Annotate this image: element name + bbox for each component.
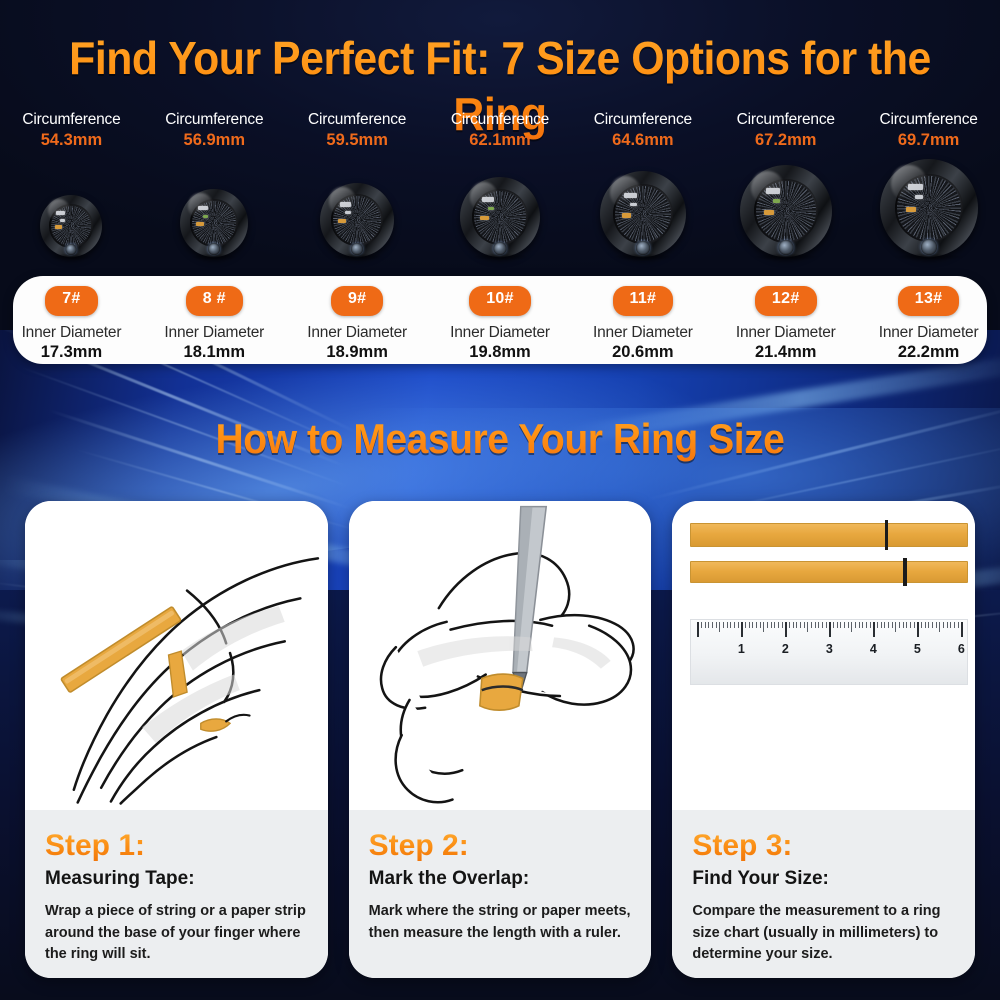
ruler-tick bbox=[848, 622, 849, 628]
step-2-subtitle: Mark the Overlap: bbox=[369, 866, 632, 892]
inner-diameter-value: 22.2mm bbox=[857, 342, 1000, 363]
hand-pen-marking-strip-icon bbox=[349, 501, 652, 810]
ruler-tick bbox=[829, 622, 830, 637]
size-badge-row: 7# 8 # 9# 10# 11# 12# 13# bbox=[0, 286, 1000, 316]
circumference-label: Circumference bbox=[451, 110, 549, 129]
size-badge-7[interactable]: 7# bbox=[45, 286, 97, 316]
section-title: How to Measure Your Ring Size bbox=[35, 412, 965, 466]
step-1-subtitle: Measuring Tape: bbox=[45, 866, 308, 892]
ring-image-10 bbox=[460, 157, 540, 257]
circumference-value: 59.5mm bbox=[326, 130, 387, 151]
ruler-tick bbox=[961, 622, 962, 637]
inner-diameter-cell-13: Inner Diameter 22.2mm bbox=[857, 323, 1000, 369]
circumference-value: 62.1mm bbox=[469, 130, 530, 151]
step-card-1[interactable]: Step 1: Measuring Tape: Wrap a piece of … bbox=[25, 501, 328, 978]
circumference-label: Circumference bbox=[594, 110, 692, 129]
circumference-value: 56.9mm bbox=[184, 130, 245, 151]
ruler-tick bbox=[811, 622, 812, 628]
ruler-tick bbox=[756, 622, 757, 628]
ruler-tick bbox=[782, 622, 783, 628]
ruler-tick bbox=[881, 622, 882, 628]
size-badge-9[interactable]: 9# bbox=[331, 286, 383, 316]
step-1-body: Step 1: Measuring Tape: Wrap a piece of … bbox=[25, 810, 328, 978]
ruler-tick bbox=[888, 622, 889, 628]
ruler-tick bbox=[932, 622, 933, 628]
ruler-tick bbox=[925, 622, 926, 628]
paper-strip-bottom bbox=[690, 561, 968, 583]
inner-diameter-value: 18.9mm bbox=[286, 342, 429, 363]
step-2-illustration bbox=[349, 501, 652, 810]
badge-cell: 10# bbox=[429, 286, 572, 316]
ruler-tick bbox=[771, 622, 772, 628]
ring-image-9 bbox=[320, 157, 394, 257]
ring-image-11 bbox=[600, 157, 686, 257]
paper-strip-diagonal bbox=[61, 606, 181, 692]
ruler-tick bbox=[833, 622, 834, 628]
ring-image-12 bbox=[740, 157, 832, 257]
ruler-tick bbox=[815, 622, 816, 628]
ruler-tick bbox=[914, 622, 915, 628]
inner-diameter-cell-7: Inner Diameter 17.3mm bbox=[0, 323, 143, 369]
ruler-tick bbox=[954, 622, 955, 628]
ruler-tick bbox=[910, 622, 911, 628]
paper-strip-top bbox=[690, 523, 968, 547]
ruler-tick bbox=[903, 622, 904, 628]
badge-cell: 13# bbox=[857, 286, 1000, 316]
ruler-tick bbox=[804, 622, 805, 628]
ruler-tick bbox=[727, 622, 728, 628]
step-1-heading: Step 1: bbox=[45, 828, 308, 864]
step-2-heading: Step 2: bbox=[369, 828, 632, 864]
ruler-tick bbox=[800, 622, 801, 628]
step-1-illustration bbox=[25, 501, 328, 810]
strip-mark-bottom bbox=[903, 558, 907, 586]
hand-with-paper-strip-icon bbox=[25, 501, 328, 810]
ruler-tick bbox=[793, 622, 794, 628]
ruler-tick bbox=[939, 622, 940, 632]
step-3-heading: Step 3: bbox=[692, 828, 955, 864]
size-badge-12[interactable]: 12# bbox=[755, 286, 817, 316]
inner-diameter-cell-11: Inner Diameter 20.6mm bbox=[571, 323, 714, 369]
inner-diameter-cell-8: Inner Diameter 18.1mm bbox=[143, 323, 286, 369]
ruler-tick bbox=[796, 622, 797, 628]
inner-diameter-value: 21.4mm bbox=[714, 342, 857, 363]
size-badge-11[interactable]: 11# bbox=[613, 286, 674, 316]
circumference-value: 54.3mm bbox=[41, 130, 102, 151]
ruler-tick bbox=[734, 622, 735, 628]
ruler-icon: 123456 bbox=[690, 619, 968, 685]
ruler-tick bbox=[892, 622, 893, 628]
inner-diameter-label: Inner Diameter bbox=[571, 323, 714, 342]
ruler-number: 6 bbox=[958, 642, 965, 656]
step-3-text: Compare the measurement to a ring size c… bbox=[692, 901, 955, 966]
ruler-tick bbox=[738, 622, 739, 628]
ruler-tick bbox=[936, 622, 937, 628]
strip-mark-top bbox=[885, 520, 888, 550]
ring-image-13 bbox=[880, 157, 978, 257]
ruler-tick bbox=[928, 622, 929, 628]
ruler-tick bbox=[745, 622, 746, 628]
ruler-tick bbox=[741, 622, 742, 637]
inner-diameter-value: 19.8mm bbox=[429, 342, 572, 363]
ruler-tick bbox=[844, 622, 845, 628]
step-card-3[interactable]: 123456 Step 3: Find Your Size: Compare t… bbox=[672, 501, 975, 978]
ruler-tick bbox=[705, 622, 706, 628]
ruler-tick bbox=[774, 622, 775, 628]
circumference-label: Circumference bbox=[737, 110, 835, 129]
step-3-illustration: 123456 bbox=[672, 501, 975, 810]
inner-diameter-label: Inner Diameter bbox=[429, 323, 572, 342]
ruler-tick bbox=[906, 622, 907, 628]
step-2-body: Step 2: Mark the Overlap: Mark where the… bbox=[349, 810, 652, 978]
circumference-label: Circumference bbox=[308, 110, 406, 129]
ruler-tick bbox=[958, 622, 959, 628]
ruler-tick bbox=[763, 622, 764, 632]
ruler-tick bbox=[712, 622, 713, 628]
inner-diameter-label: Inner Diameter bbox=[714, 323, 857, 342]
ruler-tick bbox=[855, 622, 856, 628]
ruler-tick bbox=[921, 622, 922, 628]
ruler-tick bbox=[785, 622, 786, 637]
inner-diameter-value: 18.1mm bbox=[143, 342, 286, 363]
ruler-tick bbox=[778, 622, 779, 628]
ruler-tick bbox=[837, 622, 838, 628]
ruler-tick bbox=[723, 622, 724, 628]
ruler-number: 2 bbox=[782, 642, 789, 656]
ruler-tick bbox=[789, 622, 790, 628]
ruler-tick bbox=[840, 622, 841, 628]
size-badge-8[interactable]: 8 # bbox=[186, 286, 243, 316]
ruler-tick bbox=[917, 622, 918, 637]
circumference-value: 69.7mm bbox=[898, 130, 959, 151]
ruler-tick bbox=[950, 622, 951, 628]
step-1-text: Wrap a piece of string or a paper strip … bbox=[45, 901, 308, 966]
inner-diameter-label: Inner Diameter bbox=[143, 323, 286, 342]
size-badge-13[interactable]: 13# bbox=[898, 286, 960, 316]
ruler-tick bbox=[870, 622, 871, 628]
circumference-label: Circumference bbox=[879, 110, 977, 129]
circumference-value: 67.2mm bbox=[755, 130, 816, 151]
badge-cell: 8 # bbox=[143, 286, 286, 316]
ruler-tick bbox=[873, 622, 874, 637]
inner-diameter-value: 20.6mm bbox=[571, 342, 714, 363]
ruler-number: 5 bbox=[914, 642, 921, 656]
ruler-tick bbox=[884, 622, 885, 628]
ruler-tick bbox=[822, 622, 823, 628]
inner-diameter-label: Inner Diameter bbox=[286, 323, 429, 342]
ruler-tick bbox=[877, 622, 878, 628]
badge-cell: 11# bbox=[571, 286, 714, 316]
ruler-tick bbox=[716, 622, 717, 628]
ruler-tick bbox=[719, 622, 720, 632]
ruler-tick bbox=[807, 622, 808, 632]
ruler-tick bbox=[866, 622, 867, 628]
badge-cell: 9# bbox=[286, 286, 429, 316]
ruler-tick bbox=[826, 622, 827, 628]
ruler-tick bbox=[752, 622, 753, 628]
badge-cell: 12# bbox=[714, 286, 857, 316]
ruler-tick bbox=[859, 622, 860, 628]
inner-diameter-label: Inner Diameter bbox=[0, 323, 143, 342]
ruler-tick bbox=[708, 622, 709, 628]
inner-diameter-cell-10: Inner Diameter 19.8mm bbox=[429, 323, 572, 369]
circumference-label: Circumference bbox=[165, 110, 263, 129]
ruler-number: 1 bbox=[738, 642, 745, 656]
ruler-tick bbox=[895, 622, 896, 632]
ruler-number: 4 bbox=[870, 642, 877, 656]
circumference-value: 64.6mm bbox=[612, 130, 673, 151]
ruler-tick bbox=[943, 622, 944, 628]
ruler-number: 3 bbox=[826, 642, 833, 656]
ruler-tick bbox=[697, 622, 698, 637]
step-3-body: Step 3: Find Your Size: Compare the meas… bbox=[672, 810, 975, 978]
ruler-tick bbox=[818, 622, 819, 628]
inner-diameter-row: Inner Diameter 17.3mm Inner Diameter 18.… bbox=[0, 323, 1000, 369]
inner-diameter-value: 17.3mm bbox=[0, 342, 143, 363]
ruler-tick bbox=[947, 622, 948, 628]
circumference-label: Circumference bbox=[22, 110, 120, 129]
ruler-tick bbox=[851, 622, 852, 632]
ruler-tick bbox=[767, 622, 768, 628]
step-card-2[interactable]: Step 2: Mark the Overlap: Mark where the… bbox=[349, 501, 652, 978]
marked-strip-on-finger bbox=[480, 674, 523, 710]
inner-diameter-cell-12: Inner Diameter 21.4mm bbox=[714, 323, 857, 369]
ring-image-7 bbox=[40, 157, 102, 257]
inner-diameter-label: Inner Diameter bbox=[857, 323, 1000, 342]
ruler-tick bbox=[760, 622, 761, 628]
size-badge-10[interactable]: 10# bbox=[469, 286, 531, 316]
step-3-subtitle: Find Your Size: bbox=[692, 866, 955, 892]
badge-cell: 7# bbox=[0, 286, 143, 316]
inner-diameter-cell-9: Inner Diameter 18.9mm bbox=[286, 323, 429, 369]
paper-strips-with-ruler-icon: 123456 bbox=[672, 501, 975, 810]
ring-image-8 bbox=[180, 157, 248, 257]
measure-steps: Step 1: Measuring Tape: Wrap a piece of … bbox=[25, 501, 975, 978]
ruler-tick bbox=[730, 622, 731, 628]
ruler-tick bbox=[701, 622, 702, 628]
ruler-tick bbox=[899, 622, 900, 628]
ruler-tick bbox=[749, 622, 750, 628]
ruler-tick bbox=[862, 622, 863, 628]
step-2-text: Mark where the string or paper meets, th… bbox=[369, 901, 632, 944]
